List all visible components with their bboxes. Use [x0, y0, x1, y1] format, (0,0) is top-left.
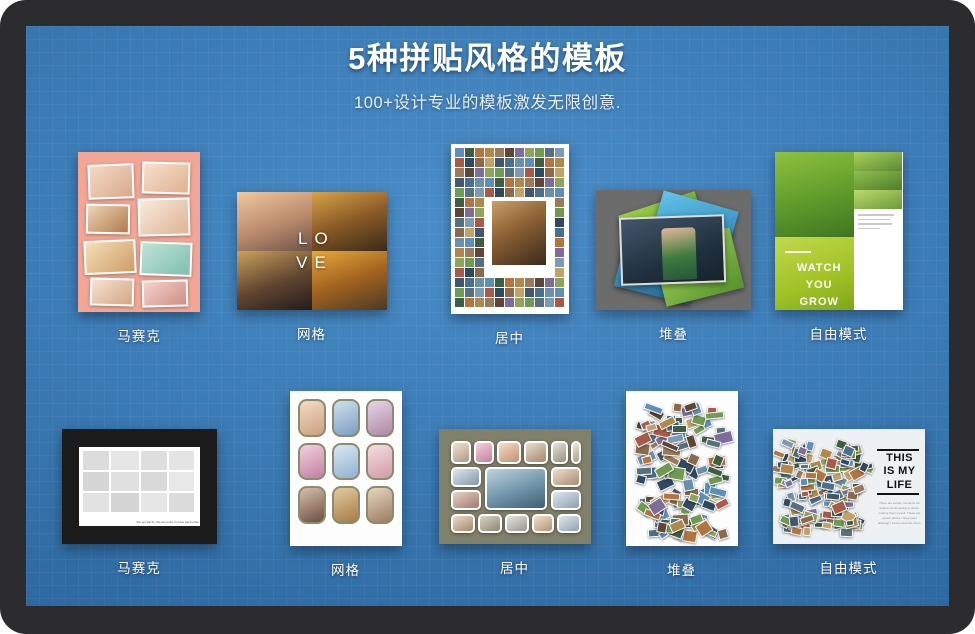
photo-tile: [505, 188, 514, 197]
photo-tile: [138, 197, 191, 236]
photo-tile: [535, 168, 544, 177]
thumbnail-centered-dense[interactable]: [451, 144, 569, 314]
thumbnail-stacked-grey[interactable]: [596, 190, 751, 310]
template-label: 马赛克: [59, 325, 219, 345]
photo-tile: [773, 449, 786, 458]
photo-tile: [515, 188, 524, 197]
photo-tile: [455, 188, 464, 197]
photo-tile: [790, 526, 802, 536]
body-text: There are certain moments we believe wor…: [877, 501, 923, 526]
photo-tile: [465, 208, 474, 217]
photo-tile: [555, 218, 564, 227]
thumbnail-wrap: We are family. We are lucky to have each…: [62, 429, 217, 544]
photo-tile: [854, 152, 903, 171]
photo-tile: [465, 148, 474, 157]
photo-tile: [535, 158, 544, 167]
photo-tile: [545, 158, 554, 167]
photo-tile: [485, 148, 494, 157]
photo-tile: [495, 188, 504, 197]
photo-tile: [475, 208, 484, 217]
photo-tile: [475, 178, 484, 187]
collage-art: [78, 152, 200, 312]
photo-tile: [485, 288, 494, 297]
template-card-free-1[interactable]: WATCH YOU GROW 自由模式: [751, 152, 926, 343]
photo-tile: [465, 158, 474, 167]
photo-tile: [495, 168, 504, 177]
photo-tile: [332, 443, 360, 481]
photo-tile: [455, 258, 464, 267]
photo-tile: [705, 439, 721, 450]
photo-tile: [495, 278, 504, 287]
thumbnail-free-thisismylife[interactable]: THIS IS MY LIFE There are certain moment…: [773, 429, 925, 544]
thumbnail-wrap: [439, 429, 591, 544]
template-card-centered-1[interactable]: 居中: [422, 144, 597, 347]
photo-tile: [455, 268, 464, 277]
photo-tile: [465, 198, 474, 207]
mosaic-caption: We are family. We are lucky to have each…: [137, 520, 200, 524]
photo-tile: [495, 288, 504, 297]
photo-tile: [555, 188, 564, 197]
photo-tile: [366, 486, 394, 524]
template-label: 居中: [422, 327, 597, 347]
wyg-line-2: YOU: [785, 277, 854, 294]
photo-tile: [555, 278, 564, 287]
photo-tile: [672, 403, 682, 414]
photo-tile: [854, 171, 903, 190]
photo-tile: [366, 443, 394, 481]
thumbnail-wrap: [290, 391, 402, 546]
photo-tile: [635, 474, 647, 486]
photo-tile: [312, 192, 387, 251]
photo-tile: [475, 288, 484, 297]
photo-tile: [455, 168, 464, 177]
photo-tile: [90, 277, 135, 306]
photo-tile: [475, 148, 484, 157]
thumbnail-wrap: LOVE: [237, 192, 387, 310]
template-card-mosaic-2[interactable]: We are family. We are lucky to have each…: [44, 429, 234, 577]
template-label: 马赛克: [44, 557, 234, 577]
photo-tile: [826, 492, 841, 501]
divider: [785, 251, 811, 253]
photo-tile: [800, 464, 809, 470]
photo-tile: [465, 238, 474, 247]
photo-tile: [854, 190, 903, 209]
photo-tile: [465, 278, 474, 287]
photo-tile: [495, 148, 504, 157]
photo-tile: [525, 278, 534, 287]
thumbnail-free-watchyougrow[interactable]: WATCH YOU GROW: [775, 152, 903, 310]
photo-tile: [455, 178, 464, 187]
photo-tile: [505, 178, 514, 187]
slide-stage: 5种拼贴风格的模板 100+设计专业的模板激发无限创意.: [26, 26, 949, 606]
wyg-line-1: WATCH: [785, 260, 854, 277]
photo-tile: [825, 456, 839, 469]
photo-tile: [716, 528, 729, 541]
photo-tile: [142, 161, 191, 194]
template-card-stacked-2[interactable]: 堆叠: [604, 391, 759, 579]
template-label: 网格: [224, 323, 399, 343]
template-label: 堆叠: [604, 559, 759, 579]
photo-tile: [475, 298, 484, 307]
photo-tile: [555, 238, 564, 247]
photo-tile: [475, 188, 484, 197]
photo-tile: [525, 288, 534, 297]
photo-tile: [505, 298, 514, 307]
photo-tile: [505, 288, 514, 297]
header: 5种拼贴风格的模板 100+设计专业的模板激发无限创意.: [26, 26, 949, 113]
photo-tile: [555, 258, 564, 267]
photo-tile: [555, 248, 564, 257]
photo-tile: [822, 521, 833, 530]
thumbnail-grid-love[interactable]: LOVE: [237, 192, 387, 310]
collage-art: [290, 391, 402, 546]
photo-column: [854, 152, 903, 237]
hero-photo: [485, 467, 547, 510]
photo-tile: [465, 178, 474, 187]
life-line-1: THIS: [877, 452, 923, 465]
photo-tile: [455, 278, 464, 287]
photo-tile: [455, 198, 464, 207]
photo-tile: [535, 288, 544, 297]
photo-tile: [545, 278, 554, 287]
photo-tile: [139, 241, 192, 277]
photo-tile: [656, 521, 668, 534]
photo-tile: [485, 278, 494, 287]
page-title: 5种拼贴风格的模板: [26, 40, 949, 79]
template-card-centered-2[interactable]: 居中: [422, 429, 607, 577]
thumbnail-grid-white[interactable]: [290, 391, 402, 546]
photo-tile: [475, 228, 484, 237]
template-card-grid-1[interactable]: LOVE 网格: [224, 192, 399, 343]
hero-photo: [491, 200, 547, 266]
photo-tile: [515, 288, 524, 297]
collage-art: We are family. We are lucky to have each…: [62, 429, 217, 544]
photo-tile: [455, 228, 464, 237]
photo-tile: [641, 455, 653, 465]
template-row-2: We are family. We are lucky to have each…: [26, 381, 949, 596]
free-mode-text-block: WATCH YOU GROW: [775, 237, 854, 310]
photo-tile: [455, 248, 464, 257]
photo-tile: [505, 168, 514, 177]
photo-tile: [298, 443, 326, 481]
wyg-line-3: GROW: [785, 294, 854, 310]
photo-tile: [495, 298, 504, 307]
photo-tile: [555, 158, 564, 167]
photo-tile: [714, 497, 730, 511]
photo-tile: [455, 238, 464, 247]
photo-tile: [237, 192, 312, 251]
butterfly-collage: [779, 439, 871, 535]
photo-tile: [515, 178, 524, 187]
photo-tile: [485, 188, 494, 197]
collage-art: [455, 148, 565, 310]
photo-tile: [475, 248, 484, 257]
photo-tile: [525, 298, 534, 307]
photo-tile: [555, 148, 564, 157]
photo-tile: [555, 168, 564, 177]
thumbnail-wrap: [596, 190, 751, 310]
life-line-2: IS MY: [877, 465, 923, 478]
photo-tile: [366, 399, 394, 437]
photo-tile: [475, 258, 484, 267]
photo-tile: [525, 148, 534, 157]
photo-tile: [555, 198, 564, 207]
template-label: 堆叠: [581, 323, 766, 343]
template-row-1: 马赛克 LOVE: [26, 144, 949, 359]
photo-tile: [800, 477, 809, 486]
thumbnail-wrap: WATCH YOU GROW: [775, 152, 903, 310]
thumbnail-wrap: [78, 152, 200, 312]
photo-tile: [535, 178, 544, 187]
photo-tile: [525, 178, 534, 187]
photo-tile: [545, 188, 554, 197]
photo-tile: [545, 178, 554, 187]
photo-tile-top: [619, 214, 726, 286]
photo-tile: [515, 168, 524, 177]
thumbnail-mosaic-black[interactable]: We are family. We are lucky to have each…: [62, 429, 217, 544]
photo-tile: [663, 492, 680, 501]
photo-tile: [775, 152, 854, 237]
photo-tile: [485, 298, 494, 307]
photo-tile: [465, 248, 474, 257]
photo-tile: [87, 163, 134, 200]
template-card-stacked-1[interactable]: 堆叠: [581, 190, 766, 343]
photo-tile: [332, 486, 360, 524]
thumbnail-wrap: [451, 144, 569, 314]
template-label: 自由模式: [756, 557, 941, 577]
photo-tile: [485, 168, 494, 177]
collage-art: LOVE: [237, 192, 387, 310]
photo-tile: [455, 288, 464, 297]
photo-tile: [495, 158, 504, 167]
template-label: 居中: [422, 557, 607, 577]
photo-tile: [515, 158, 524, 167]
photo-tile: [672, 425, 687, 433]
collage-art: [626, 391, 738, 546]
photo-tile: [465, 188, 474, 197]
photo-tile: [455, 158, 464, 167]
photo-tile: [312, 251, 387, 310]
photo-tile: [475, 168, 484, 177]
collage-art: [596, 190, 751, 310]
photo-tile: [298, 486, 326, 524]
thumbnail-centered-olive[interactable]: [439, 429, 591, 544]
photo-tile: [505, 148, 514, 157]
photo-tile: [455, 218, 464, 227]
photo-tile: [485, 158, 494, 167]
template-label: 自由模式: [751, 323, 926, 343]
device-frame: 5种拼贴风格的模板 100+设计专业的模板激发无限创意.: [0, 0, 975, 634]
photo-tile: [485, 178, 494, 187]
photo-tile: [515, 148, 524, 157]
thumbnail-stacked-white[interactable]: [626, 391, 738, 546]
thumbnail-mosaic-pink[interactable]: [78, 152, 200, 312]
photo-tile: [535, 188, 544, 197]
photo-tile: [465, 168, 474, 177]
photo-tile: [545, 298, 554, 307]
template-card-grid-2[interactable]: 网格: [268, 391, 423, 579]
photo-tile: [515, 278, 524, 287]
photo-tile: [332, 399, 360, 437]
photo-tile: [788, 516, 799, 528]
photo-tile: [495, 178, 504, 187]
photo-tile: [535, 298, 544, 307]
photo-tile: [465, 218, 474, 227]
photo-tile: [535, 148, 544, 157]
photo-tile: [465, 268, 474, 277]
photo-tile: [298, 399, 326, 437]
photo-tile: [455, 298, 464, 307]
photo-tile: [475, 238, 484, 247]
photo-tile: [465, 258, 474, 267]
photo-tile: [86, 204, 131, 235]
photo-tile: [555, 208, 564, 217]
photo-tile: [475, 158, 484, 167]
photo-tile: [465, 298, 474, 307]
photo-tile: [142, 279, 189, 307]
photo-tile: [525, 158, 534, 167]
photo-tile: [555, 178, 564, 187]
collage-art: [439, 429, 591, 544]
thumbnail-wrap: THIS IS MY LIFE There are certain moment…: [773, 429, 925, 544]
photo-tile: [704, 411, 723, 419]
photo-tile: [555, 228, 564, 237]
collage-art: THIS IS MY LIFE There are certain moment…: [773, 429, 925, 544]
photo-tile: [525, 188, 534, 197]
photo-tile: [465, 288, 474, 297]
life-line-3: LIFE: [877, 479, 923, 492]
photo-tile: [545, 148, 554, 157]
template-label: 网格: [268, 559, 423, 579]
photo-tile: [475, 218, 484, 227]
template-card-free-2[interactable]: THIS IS MY LIFE There are certain moment…: [756, 429, 941, 577]
photo-tile: [525, 168, 534, 177]
photo-tile: [555, 298, 564, 307]
photo-tile: [505, 158, 514, 167]
photo-tile: [545, 288, 554, 297]
thumbnail-wrap: [626, 391, 738, 546]
photo-tile: [555, 268, 564, 277]
photo-tile: [475, 198, 484, 207]
photo-tile: [802, 527, 811, 537]
photo-tile: [475, 278, 484, 287]
photo-tile: [505, 278, 514, 287]
photo-tile: [455, 148, 464, 157]
photo-tile: [83, 239, 136, 275]
photo-tile: [515, 298, 524, 307]
collage-art: WATCH YOU GROW: [775, 152, 903, 310]
photo-tile: [475, 268, 484, 277]
template-card-mosaic-1[interactable]: 马赛克: [59, 152, 219, 345]
photo-tile: [455, 208, 464, 217]
photo-tile: [535, 278, 544, 287]
page-subtitle: 100+设计专业的模板激发无限创意.: [26, 89, 949, 113]
photo-tile: [545, 168, 554, 177]
caption-lines: [854, 209, 903, 237]
photo-tile: [465, 228, 474, 237]
photo-tile: [555, 288, 564, 297]
photo-tile: [237, 251, 312, 310]
